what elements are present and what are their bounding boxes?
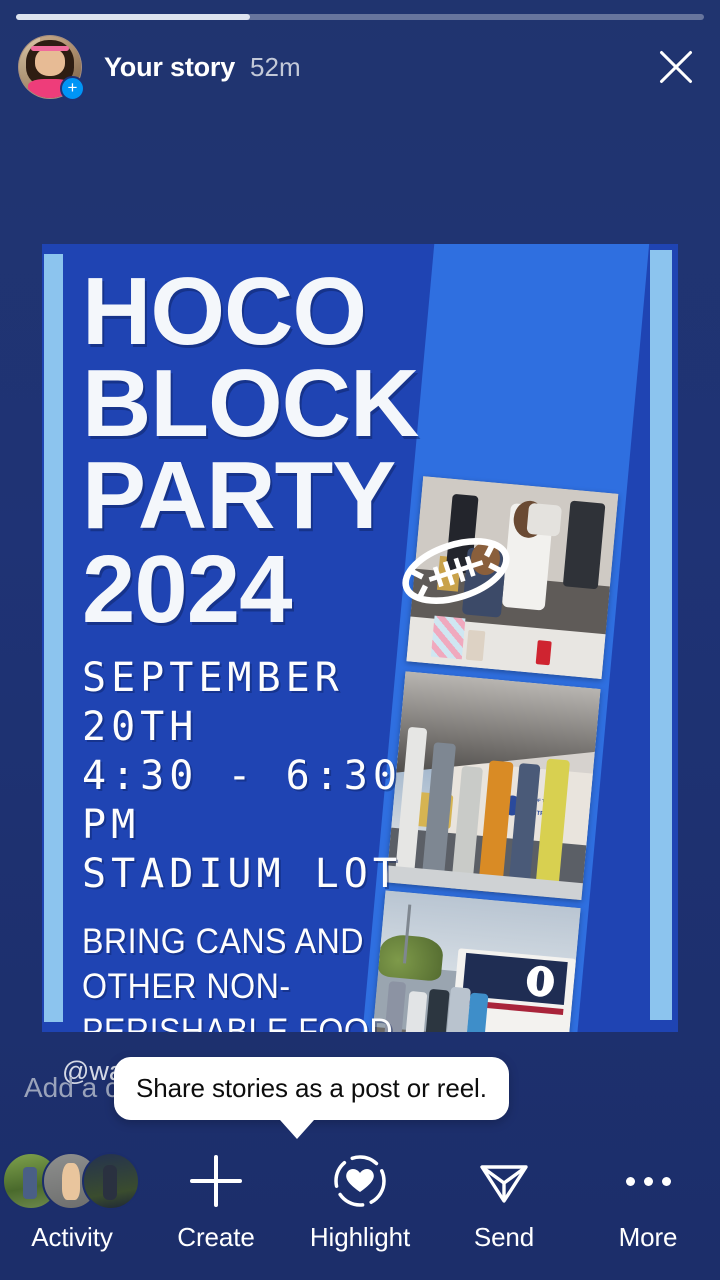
poster-title-line-4: 2024	[82, 536, 292, 643]
poster-detail-time: 4:30 - 6:30 PM	[82, 752, 472, 850]
poster-details: SEPTEMBER 20TH 4:30 - 6:30 PM STADIUM LO…	[82, 654, 472, 899]
poster-body: BRING CANS AND OTHER NON- PERISHABLE FOO…	[82, 919, 454, 1032]
highlight-button[interactable]: Highlight	[288, 1144, 432, 1253]
activity-button[interactable]: Activity	[0, 1144, 144, 1253]
poster-body-line-2: PERISHABLE FOOD ITEMS FOR	[82, 1009, 424, 1032]
story-progress-fill	[16, 14, 250, 20]
more-button[interactable]: More	[576, 1144, 720, 1253]
activity-avatars-icon	[0, 1150, 144, 1212]
create-button[interactable]: Create	[144, 1144, 288, 1253]
avatar-headband	[31, 46, 68, 52]
highlight-label: Highlight	[310, 1222, 410, 1253]
more-label: More	[619, 1222, 678, 1253]
story-viewer-screen: + Your story 52m	[0, 0, 720, 1280]
poster-title-line-3: PARTY	[82, 450, 472, 542]
create-label: Create	[177, 1222, 254, 1253]
activity-avatar-3	[82, 1152, 140, 1210]
story-action-bar: Activity Create Highlight	[0, 1144, 720, 1280]
add-to-story-plus-icon[interactable]: +	[60, 76, 85, 101]
poster-body-line-1: BRING CANS AND OTHER NON-	[82, 919, 424, 1009]
poster-title-line-2: BLOCK	[82, 358, 472, 450]
close-icon[interactable]	[650, 41, 702, 93]
poster-title-line-4-wrap: 2024	[82, 542, 472, 638]
send-button[interactable]: Send	[432, 1144, 576, 1253]
football-icon	[400, 534, 512, 608]
avatar[interactable]: +	[18, 35, 82, 99]
story-username[interactable]: Your story	[104, 52, 235, 83]
share-stories-tooltip[interactable]: Share stories as a post or reel.	[114, 1057, 509, 1120]
poster-detail-date: SEPTEMBER 20TH	[82, 654, 472, 752]
poster-title-line-1: HOCO	[82, 266, 472, 358]
story-timestamp: 52m	[250, 52, 301, 83]
story-media-poster[interactable]: HOME OF THE WAYZATA TROJANS	[42, 244, 678, 1032]
tooltip-text: Share stories as a post or reel.	[136, 1073, 487, 1104]
poster-detail-location: STADIUM LOT	[82, 850, 472, 899]
story-progress-bar[interactable]	[16, 14, 704, 20]
highlight-heart-icon	[288, 1150, 432, 1212]
send-paperplane-icon	[432, 1150, 576, 1212]
send-label: Send	[474, 1222, 534, 1253]
poster-text-block: HOCO BLOCK PARTY 2024	[82, 266, 472, 1032]
activity-label: Activity	[31, 1222, 113, 1253]
avatar-face	[35, 48, 65, 75]
plus-glyph: +	[68, 79, 78, 96]
more-dots-icon	[576, 1150, 720, 1212]
poster-left-stripe	[44, 254, 63, 1022]
plus-icon	[144, 1150, 288, 1212]
tooltip-arrow	[280, 1120, 314, 1139]
story-header: + Your story 52m	[0, 32, 720, 102]
